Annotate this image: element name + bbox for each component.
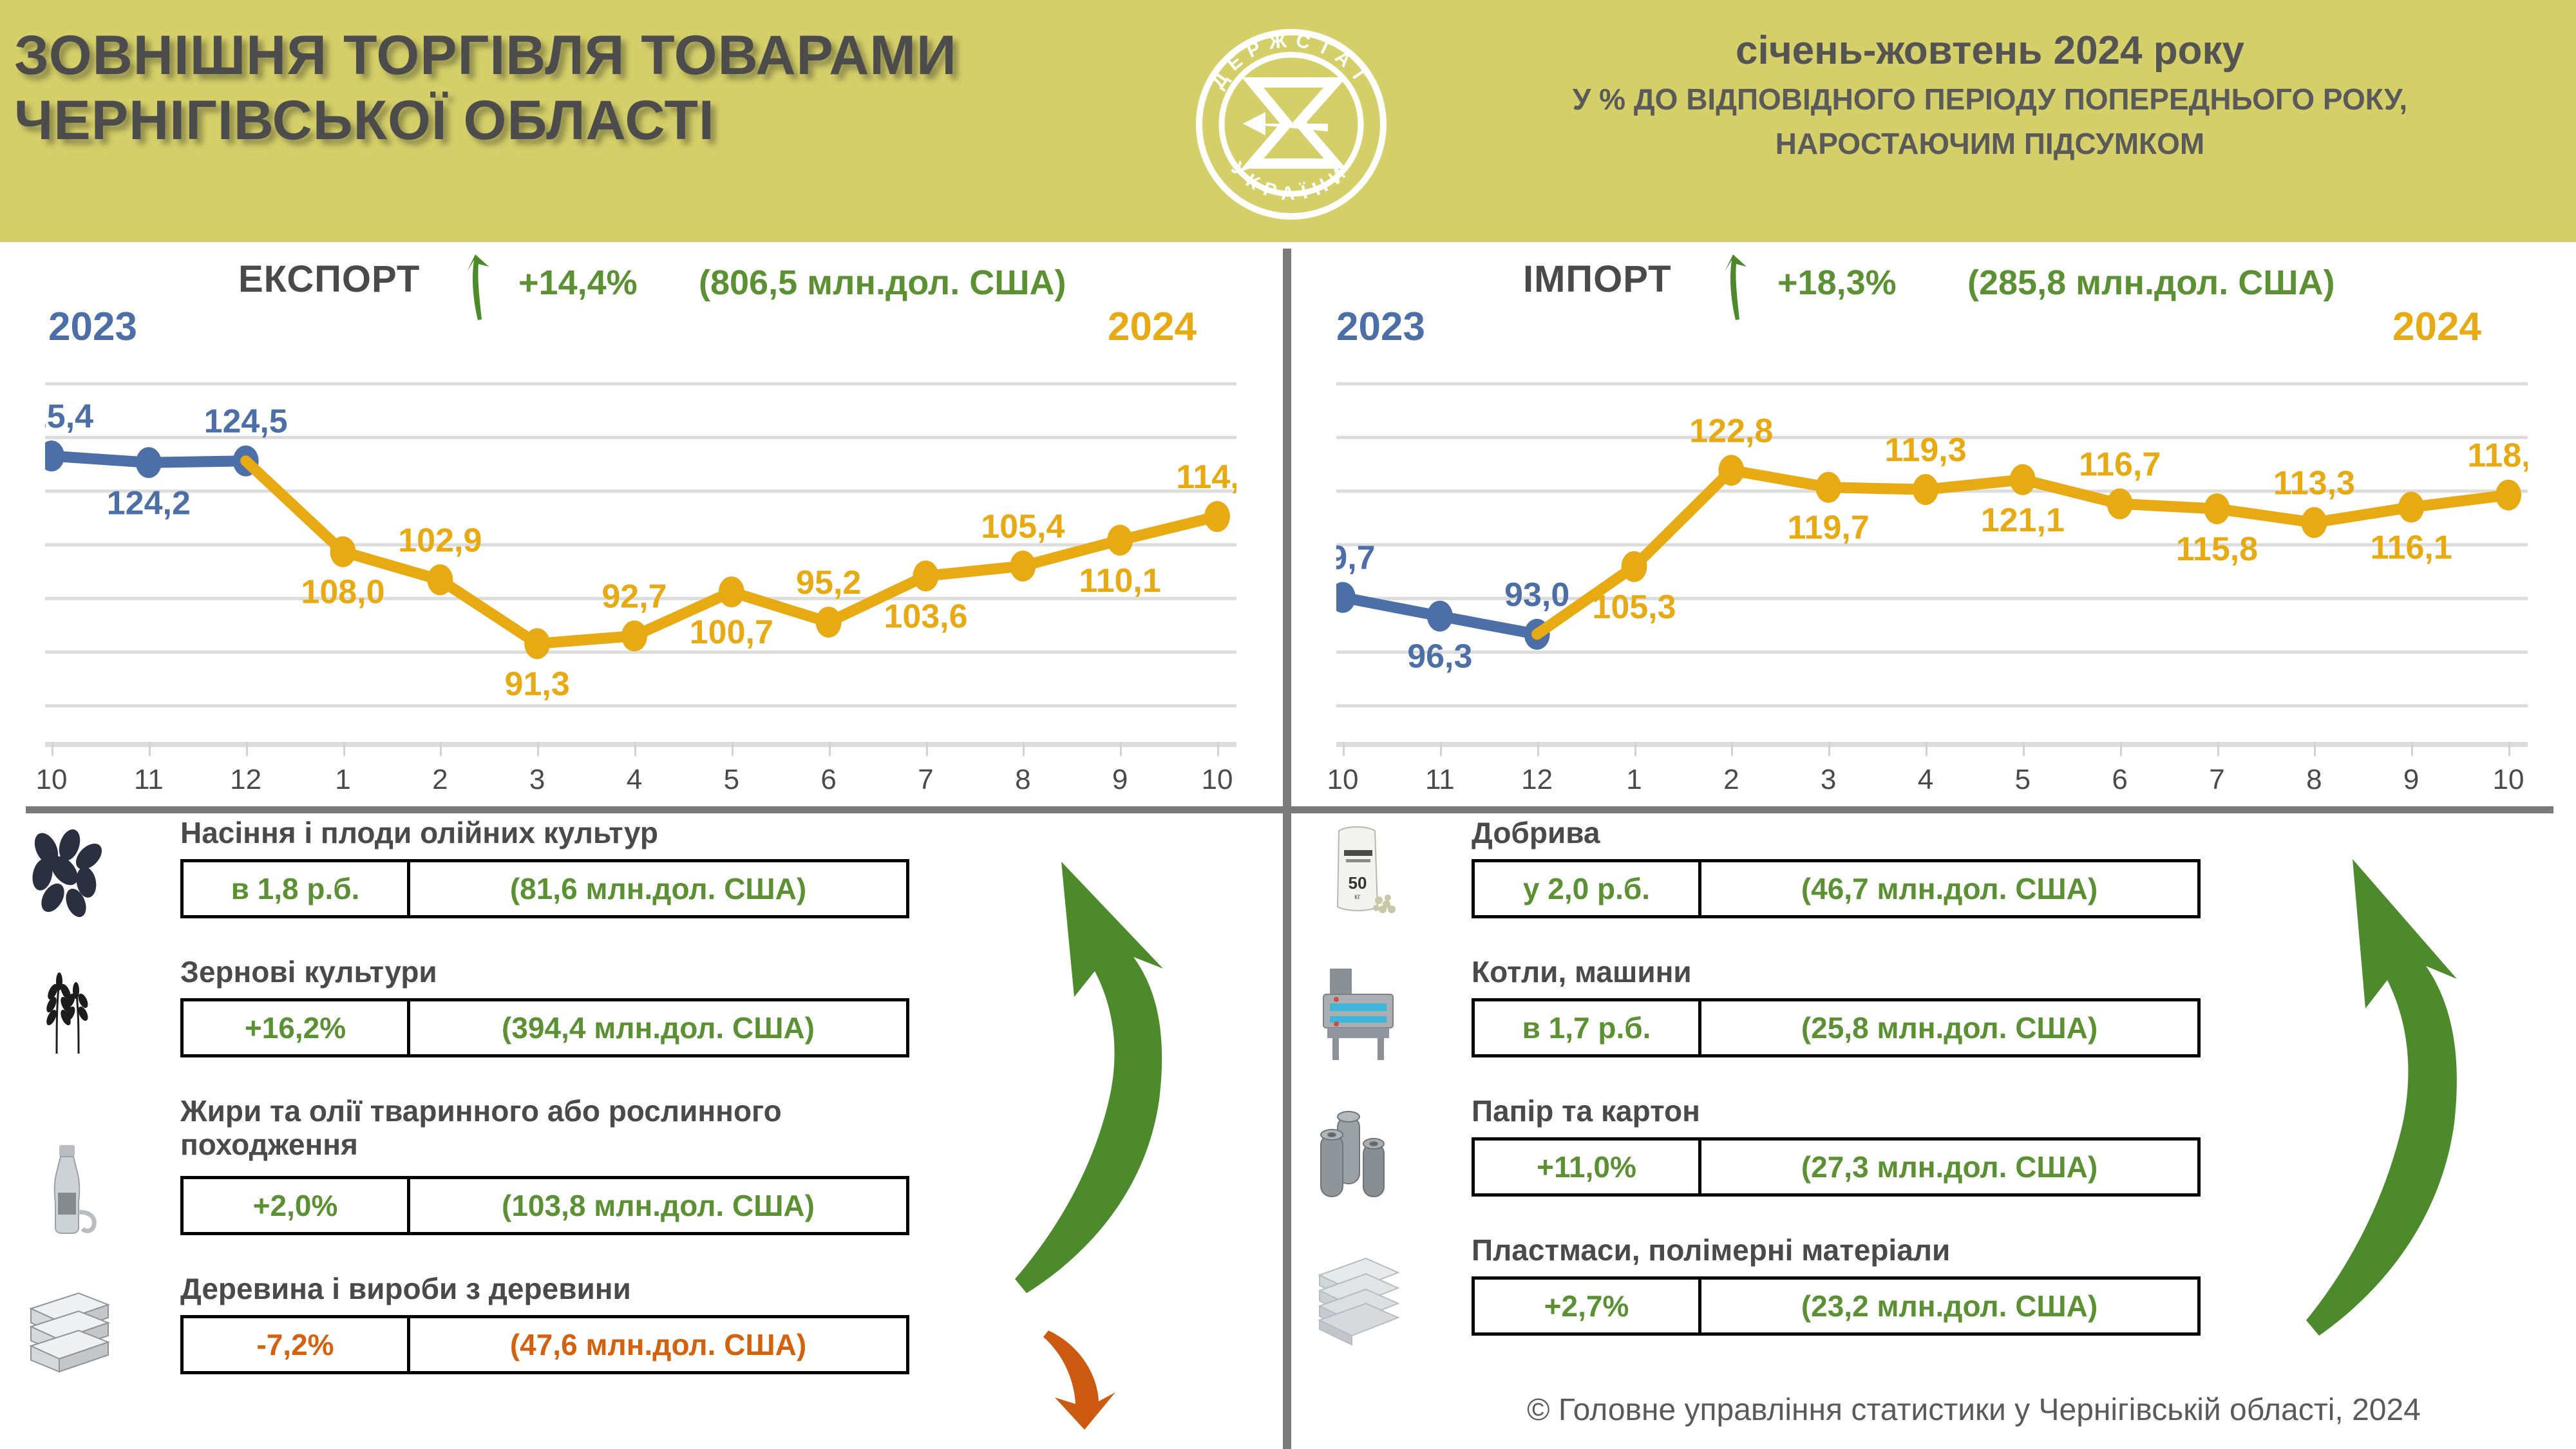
import-axis: 10111212345678910 bbox=[1336, 742, 2528, 787]
axis-tick bbox=[1120, 742, 1122, 756]
item-change: +2,0% bbox=[184, 1179, 410, 1232]
period-subtitle-line-1: У % ДО ВІДПОВІДНОГО ПЕРІОДУ ПОПЕРЕДНЬОГО… bbox=[1417, 80, 2563, 118]
export-items-list: Насіння і плоди олійних культур в 1,8 р.… bbox=[0, 817, 1283, 1435]
item-amount: (27,3 млн.дол. США) bbox=[1701, 1141, 2197, 1193]
item-name: Зернові культури bbox=[180, 956, 437, 989]
axis-tick bbox=[1828, 742, 1830, 756]
axis-label: 9 bbox=[1112, 764, 1128, 796]
svg-text:92,7: 92,7 bbox=[601, 578, 667, 615]
svg-text:121,1: 121,1 bbox=[1981, 502, 2065, 539]
item-name: Добрива bbox=[1472, 817, 1600, 850]
sunflower-seeds-icon bbox=[19, 823, 116, 920]
axis-tick bbox=[2508, 742, 2510, 756]
axis-label: 3 bbox=[1821, 764, 1836, 796]
axis-label: 2 bbox=[1723, 764, 1739, 796]
svg-text:125,4: 125,4 bbox=[45, 398, 93, 435]
svg-text:118,3: 118,3 bbox=[2467, 437, 2528, 475]
item-name: Котли, машини bbox=[1472, 956, 1692, 989]
axis-tick bbox=[440, 742, 442, 756]
item-name: Деревина і вироби з деревини bbox=[180, 1273, 631, 1306]
axis-tick bbox=[2120, 742, 2122, 756]
axis-tick bbox=[2217, 742, 2219, 756]
svg-text:50: 50 bbox=[1349, 873, 1367, 893]
axis-label: 1 bbox=[335, 764, 350, 796]
import-items-list: 50 кг Добрива у 2,0 р.б. (46,7 млн.дол. … bbox=[1291, 817, 2576, 1435]
axis-label: 6 bbox=[2112, 764, 2127, 796]
item-table: +2,7% (23,2 млн.дол. США) bbox=[1472, 1276, 2201, 1336]
item-change: в 1,7 р.б. bbox=[1475, 1001, 1701, 1054]
item-name: Насіння і плоди олійних культур bbox=[180, 817, 658, 850]
item-table: в 1,8 р.б. (81,6 млн.дол. США) bbox=[180, 859, 909, 918]
export-label: ЕКСПОРТ bbox=[238, 258, 420, 301]
axis-label: 7 bbox=[2209, 764, 2224, 796]
item-change: у 2,0 р.б. bbox=[1475, 862, 1701, 915]
item-change: +16,2% bbox=[184, 1001, 410, 1054]
svg-text:99,7: 99,7 bbox=[1336, 540, 1376, 577]
axis-label: 10 bbox=[2493, 764, 2524, 796]
axis-tick bbox=[1343, 742, 1345, 756]
axis-label: 11 bbox=[1425, 764, 1455, 796]
item-amount: (81,6 млн.дол. США) bbox=[410, 862, 906, 915]
item-table: +11,0% (27,3 млн.дол. США) bbox=[1472, 1137, 2201, 1197]
horizontal-divider-left bbox=[26, 806, 1285, 813]
axis-tick bbox=[1440, 742, 1442, 756]
item-change: в 1,8 р.б. bbox=[184, 862, 410, 915]
axis-label: 10 bbox=[1327, 764, 1359, 796]
item-table: -7,2% (47,6 млн.дол. США) bbox=[180, 1315, 909, 1374]
svg-text:116,7: 116,7 bbox=[2079, 446, 2161, 483]
derzhstat-ukrainy-emblem-icon: ДЕРЖСТАТ УКРАЇНИ bbox=[1179, 5, 1404, 237]
axis-tick bbox=[926, 742, 928, 756]
axis-label: 4 bbox=[1918, 764, 1933, 796]
item-table: +16,2% (394,4 млн.дол. США) bbox=[180, 998, 909, 1057]
export-year-2024: 2024 bbox=[1108, 304, 1197, 350]
axis-label: 12 bbox=[1521, 764, 1553, 796]
axis-tick bbox=[537, 742, 539, 756]
axis-label: 5 bbox=[724, 764, 739, 796]
export-panel: ЕКСПОРТ +14,4% (806,5 млн.дол. США) 2023… bbox=[0, 249, 1283, 806]
export-percent: +14,4% bbox=[518, 263, 638, 303]
item-change: +2,7% bbox=[1475, 1280, 1701, 1332]
item-change: +11,0% bbox=[1475, 1141, 1701, 1193]
svg-text:93,0: 93,0 bbox=[1504, 576, 1569, 614]
item-name: Жири та олії тваринного або рослинного п… bbox=[180, 1095, 940, 1161]
axis-label: 2 bbox=[432, 764, 448, 796]
period-title: січень-жовтень 2024 року bbox=[1417, 27, 2563, 74]
axis-line bbox=[45, 742, 1236, 747]
item-table: у 2,0 р.б. (46,7 млн.дол. США) bbox=[1472, 859, 2201, 918]
axis-tick bbox=[2411, 742, 2413, 756]
axis-label: 8 bbox=[1015, 764, 1030, 796]
copyright-text: © Головне управління статистики у Черніг… bbox=[1385, 1392, 2563, 1428]
axis-label: 10 bbox=[36, 764, 68, 796]
axis-label: 10 bbox=[1202, 764, 1233, 796]
svg-text:119,7: 119,7 bbox=[1788, 509, 1870, 547]
axis-tick bbox=[343, 742, 345, 756]
svg-text:105,4: 105,4 bbox=[981, 508, 1065, 545]
axis-tick bbox=[149, 742, 151, 756]
fertilizer-bag-icon: 50 кг bbox=[1311, 822, 1407, 918]
svg-text:103,6: 103,6 bbox=[884, 598, 967, 635]
item-amount: (47,6 млн.дол. США) bbox=[410, 1318, 906, 1371]
timber-planks-icon bbox=[19, 1287, 116, 1383]
axis-label: 6 bbox=[820, 764, 836, 796]
svg-text:95,2: 95,2 bbox=[796, 564, 861, 601]
axis-label: 8 bbox=[2306, 764, 2322, 796]
svg-text:кг: кг bbox=[1354, 892, 1361, 901]
vertical-divider bbox=[1283, 249, 1291, 1449]
axis-label: 3 bbox=[529, 764, 545, 796]
item-table: в 1,7 р.б. (25,8 млн.дол. США) bbox=[1472, 998, 2201, 1057]
import-panel: ІМПОРТ +18,3% (285,8 млн.дол. США) 2023 … bbox=[1291, 249, 2576, 806]
horizontal-divider-right bbox=[1291, 806, 2553, 813]
svg-text:108,0: 108,0 bbox=[301, 574, 384, 611]
item-name: Папір та картон bbox=[1472, 1095, 1700, 1128]
period-subtitle-line-2: НАРОСТАЮЧИМ ПІДСУМКОМ bbox=[1417, 125, 2563, 163]
axis-tick bbox=[829, 742, 831, 756]
axis-tick bbox=[1023, 742, 1025, 756]
period-block: січень-жовтень 2024 року У % ДО ВІДПОВІД… bbox=[1417, 27, 2563, 163]
title-line-2: ЧЕРНІГІВСЬКОЇ ОБЛАСТІ bbox=[14, 88, 1167, 153]
axis-tick bbox=[1731, 742, 1733, 756]
axis-tick bbox=[246, 742, 248, 756]
axis-label: 5 bbox=[2015, 764, 2031, 796]
export-kpi-row: ЕКСПОРТ +14,4% (806,5 млн.дол. США) bbox=[0, 258, 1283, 328]
title-line-1: ЗОВНІШНЯ ТОРГІВЛЯ ТОВАРАМИ bbox=[14, 23, 1167, 88]
axis-label: 9 bbox=[2403, 764, 2419, 796]
svg-text:124,5: 124,5 bbox=[204, 403, 288, 440]
svg-text:110,1: 110,1 bbox=[1079, 562, 1161, 600]
axis-label: 7 bbox=[918, 764, 933, 796]
item-amount: (23,2 млн.дол. США) bbox=[1701, 1280, 2197, 1332]
import-chart: 99,796,393,0105,3122,8119,7119,3121,1116… bbox=[1336, 371, 2528, 732]
axis-tick bbox=[2023, 742, 2025, 756]
import-percent: +18,3% bbox=[1777, 263, 1897, 303]
item-amount: (46,7 млн.дол. США) bbox=[1701, 862, 2197, 915]
export-axis: 10111212345678910 bbox=[45, 742, 1236, 787]
svg-text:116,1: 116,1 bbox=[2371, 529, 2452, 567]
axis-line bbox=[1336, 742, 2528, 747]
small-orange-down-arrow-icon bbox=[1038, 1325, 1135, 1438]
paper-rolls-icon bbox=[1311, 1104, 1407, 1200]
axis-label: 1 bbox=[1626, 764, 1642, 796]
import-value: (285,8 млн.дол. США) bbox=[1967, 263, 2334, 303]
wheat-ears-icon bbox=[19, 963, 116, 1060]
axis-tick bbox=[732, 742, 734, 756]
axis-tick bbox=[1537, 742, 1539, 756]
svg-text:115,8: 115,8 bbox=[2176, 531, 2258, 568]
item-amount: (103,8 млн.дол. США) bbox=[410, 1179, 906, 1232]
big-green-up-arrow-icon bbox=[2302, 829, 2515, 1348]
import-kpi-row: ІМПОРТ +18,3% (285,8 млн.дол. США) bbox=[1291, 258, 2576, 328]
item-table: +2,0% (103,8 млн.дол. США) bbox=[180, 1176, 909, 1235]
axis-label: 4 bbox=[627, 764, 642, 796]
svg-text:114,4: 114,4 bbox=[1176, 459, 1236, 496]
plastic-sheets-icon bbox=[1311, 1251, 1407, 1347]
oil-bottle-icon bbox=[19, 1140, 116, 1236]
axis-tick bbox=[634, 742, 636, 756]
import-year-2023: 2023 bbox=[1336, 304, 1425, 350]
big-green-up-arrow-icon bbox=[1011, 842, 1224, 1309]
up-arrow-icon bbox=[459, 252, 496, 314]
svg-text:102,9: 102,9 bbox=[398, 522, 482, 559]
import-year-2024: 2024 bbox=[2392, 304, 2481, 350]
item-name: Пластмаси, полімерні матеріали bbox=[1472, 1234, 1950, 1267]
axis-tick bbox=[1217, 742, 1219, 756]
svg-text:113,3: 113,3 bbox=[2273, 464, 2355, 502]
axis-tick bbox=[2314, 742, 2316, 756]
up-arrow-icon bbox=[1716, 252, 1754, 314]
item-amount: (394,4 млн.дол. США) bbox=[410, 1001, 906, 1054]
svg-text:105,3: 105,3 bbox=[1592, 589, 1676, 626]
axis-tick bbox=[1926, 742, 1927, 756]
export-chart: 125,4124,2124,5108,0102,991,392,7100,795… bbox=[45, 371, 1236, 732]
export-year-2023: 2023 bbox=[48, 304, 137, 350]
export-value: (806,5 млн.дол. США) bbox=[699, 263, 1066, 303]
svg-text:100,7: 100,7 bbox=[690, 614, 773, 651]
svg-text:122,8: 122,8 bbox=[1689, 412, 1773, 450]
axis-label: 11 bbox=[134, 764, 164, 796]
axis-tick bbox=[1634, 742, 1636, 756]
item-amount: (25,8 млн.дол. США) bbox=[1701, 1001, 2197, 1054]
import-label: ІМПОРТ bbox=[1523, 258, 1672, 301]
svg-text:119,3: 119,3 bbox=[1884, 431, 1966, 469]
page-header: ЗОВНІШНЯ ТОРГІВЛЯ ТОВАРАМИ ЧЕРНІГІВСЬКОЇ… bbox=[0, 0, 2576, 242]
axis-label: 12 bbox=[230, 764, 261, 796]
item-change: -7,2% bbox=[184, 1318, 410, 1371]
machine-icon bbox=[1311, 965, 1407, 1061]
axis-tick bbox=[52, 742, 53, 756]
page-title: ЗОВНІШНЯ ТОРГІВЛЯ ТОВАРАМИ ЧЕРНІГІВСЬКОЇ… bbox=[14, 23, 1167, 154]
svg-text:96,3: 96,3 bbox=[1407, 638, 1472, 676]
svg-text:124,2: 124,2 bbox=[107, 484, 191, 522]
svg-text:91,3: 91,3 bbox=[505, 665, 570, 703]
